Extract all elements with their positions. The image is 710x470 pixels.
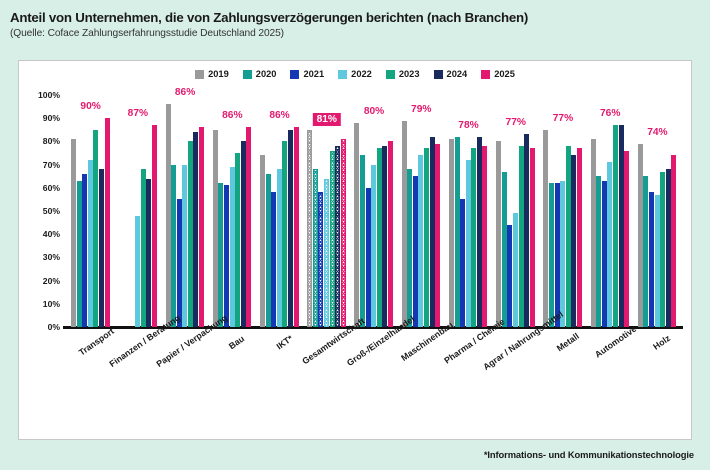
chart-legend: 2019202020212022202320242025 — [19, 69, 691, 79]
legend-item-2020[interactable]: 2020 — [243, 69, 277, 79]
x-axis-label-slot: Automotive — [587, 331, 634, 426]
bar-cluster — [260, 95, 299, 327]
bar-2023 — [519, 146, 524, 327]
bar-value-label: 77% — [553, 113, 573, 124]
bar-2019 — [543, 130, 548, 327]
y-axis-tick: 100% — [38, 90, 60, 100]
x-axis-label-slot: Pharma / Chemie — [445, 331, 492, 426]
bar-2020 — [407, 169, 412, 327]
bar-2020 — [502, 172, 507, 327]
bar-cluster — [213, 95, 252, 327]
bar-2023 — [566, 146, 571, 327]
bar-cluster — [402, 95, 441, 327]
bar-cluster — [71, 95, 110, 327]
bar-2023 — [660, 172, 665, 327]
bar-cluster — [166, 95, 205, 327]
bar-value-label: 86% — [222, 110, 242, 121]
bar-2022 — [607, 162, 612, 327]
legend-label: 2022 — [351, 69, 372, 79]
bar-2020 — [218, 183, 223, 327]
plot-area: 90%87%86%86%86%81%80%79%78%77%77%76%74% — [67, 95, 681, 327]
x-axis-label: Metall — [555, 331, 581, 353]
bar-value-label: 80% — [364, 106, 384, 117]
bar-2022 — [230, 167, 235, 327]
bar-group: 81% — [303, 95, 350, 327]
bar-2021 — [177, 199, 182, 327]
bar-2021 — [366, 188, 371, 327]
bar-value-label: 87% — [128, 108, 148, 119]
bar-2024 — [241, 141, 246, 327]
bar-cluster — [496, 95, 535, 327]
x-axis-label-slot: Holz — [634, 331, 681, 426]
x-axis-label-slot: Transport — [67, 331, 114, 426]
bar-group: 77% — [492, 95, 539, 327]
bar-2019 — [307, 130, 312, 327]
legend-label: 2019 — [208, 69, 229, 79]
bar-2022 — [466, 160, 471, 327]
y-axis-tick: 70% — [43, 160, 60, 170]
bar-2021 — [507, 225, 512, 327]
bar-2020 — [77, 181, 82, 327]
bar-group: 86% — [209, 95, 256, 327]
bar-2025 — [577, 148, 582, 327]
bar-group: 86% — [256, 95, 303, 327]
x-axis-label-slot: Metall — [539, 331, 586, 426]
bar-2023 — [93, 130, 98, 327]
x-axis-label-slot: Gesamtwirtschaft — [303, 331, 350, 426]
bar-2025 — [246, 127, 251, 327]
bar-group: 90% — [67, 95, 114, 327]
legend-swatch-icon-2023 — [386, 70, 395, 79]
bar-group: 74% — [634, 95, 681, 327]
chart-panel: 2019202020212022202320242025 0%10%20%30%… — [18, 60, 692, 440]
bar-value-label: 79% — [411, 104, 431, 115]
footnote: *Informations- und Kommunikationstechnol… — [484, 449, 694, 460]
bar-2022 — [371, 165, 376, 327]
bar-cluster — [354, 95, 393, 327]
legend-swatch-icon-2019 — [195, 70, 204, 79]
bar-2020 — [643, 176, 648, 327]
bar-2024 — [619, 125, 624, 327]
bar-2019 — [354, 123, 359, 327]
bar-2023 — [282, 141, 287, 327]
bar-2024 — [430, 137, 435, 327]
bar-2019 — [71, 139, 76, 327]
bar-2021 — [460, 199, 465, 327]
bar-value-label: 90% — [80, 101, 100, 112]
x-axis-label-slot: Maschinenbau — [398, 331, 445, 426]
bar-2019 — [449, 139, 454, 327]
legend-swatch-icon-2022 — [338, 70, 347, 79]
bar-2021 — [602, 181, 607, 327]
x-axis-label: IKT* — [274, 333, 294, 351]
bar-2019 — [638, 144, 643, 327]
bar-2024 — [99, 169, 104, 327]
bar-2024 — [382, 146, 387, 327]
bar-2019 — [166, 104, 171, 327]
legend-label: 2020 — [256, 69, 277, 79]
y-axis-tick: 0% — [48, 322, 60, 332]
bar-2021 — [271, 192, 276, 327]
y-axis: 0%10%20%30%40%50%60%70%80%90%100% — [19, 95, 63, 327]
bar-2020 — [455, 137, 460, 327]
bar-group: 86% — [161, 95, 208, 327]
legend-item-2024[interactable]: 2024 — [434, 69, 468, 79]
bar-2025 — [435, 144, 440, 327]
bar-2019 — [260, 155, 265, 327]
bar-2024 — [477, 137, 482, 327]
bar-2019 — [213, 130, 218, 327]
bar-2021 — [649, 192, 654, 327]
bar-value-label: 74% — [647, 127, 667, 138]
bar-value-label: 76% — [600, 108, 620, 119]
legend-item-2025[interactable]: 2025 — [481, 69, 515, 79]
legend-swatch-icon-2021 — [290, 70, 299, 79]
bar-value-label: 86% — [269, 110, 289, 121]
bar-2025 — [482, 146, 487, 327]
x-axis-label-slot: Finanzen / Beratung — [114, 331, 161, 426]
y-axis-tick: 80% — [43, 136, 60, 146]
bar-group: 80% — [350, 95, 397, 327]
bar-value-label: 81% — [313, 113, 341, 126]
bar-group: 78% — [445, 95, 492, 327]
page-title: Anteil von Unternehmen, die von Zahlungs… — [10, 10, 700, 26]
x-axis-label: Bau — [227, 333, 246, 351]
bar-2023 — [471, 148, 476, 327]
bar-2025 — [388, 141, 393, 327]
x-axis-label-slot: Bau — [209, 331, 256, 426]
bar-2022 — [324, 179, 329, 327]
y-axis-tick: 10% — [43, 299, 60, 309]
bar-2025 — [152, 125, 157, 327]
legend-item-2019[interactable]: 2019 — [195, 69, 229, 79]
bar-2021 — [82, 174, 87, 327]
x-axis-label: Holz — [652, 333, 673, 352]
y-axis-tick: 40% — [43, 229, 60, 239]
bar-2020 — [360, 155, 365, 327]
bar-2021 — [318, 192, 323, 327]
bar-cluster — [591, 95, 630, 327]
y-axis-tick: 90% — [43, 113, 60, 123]
legend-label: 2025 — [494, 69, 515, 79]
legend-swatch-icon-2024 — [434, 70, 443, 79]
bar-2023 — [613, 125, 618, 327]
bar-2025 — [199, 127, 204, 327]
legend-item-2022[interactable]: 2022 — [338, 69, 372, 79]
bar-value-label: 78% — [458, 120, 478, 131]
x-axis-label-slot: Agrar / Nahrungsmittel — [492, 331, 539, 426]
legend-label: 2024 — [447, 69, 468, 79]
bar-2025 — [105, 118, 110, 327]
bar-2024 — [335, 146, 340, 327]
bar-2022 — [513, 213, 518, 327]
chart-header: Anteil von Unternehmen, die von Zahlungs… — [10, 10, 700, 41]
bar-2020 — [549, 183, 554, 327]
bar-2025 — [624, 151, 629, 327]
bar-value-label: 86% — [175, 87, 195, 98]
bar-2024 — [193, 132, 198, 327]
bar-group: 77% — [539, 95, 586, 327]
bar-2024 — [524, 134, 529, 327]
bar-2020 — [171, 165, 176, 327]
bar-2019 — [591, 139, 596, 327]
bar-2025 — [294, 127, 299, 327]
x-axis-label: Automotive — [593, 324, 638, 360]
chart-source-subtitle: (Quelle: Coface Zahlungserfahrungsstudie… — [10, 27, 700, 41]
bar-2022 — [418, 155, 423, 327]
bar-2019 — [496, 141, 501, 327]
bar-2022 — [88, 160, 93, 327]
x-axis-label-slot: Papier / Verpackung — [161, 331, 208, 426]
y-axis-tick: 20% — [43, 276, 60, 286]
bar-2023 — [424, 148, 429, 327]
bar-2022 — [182, 165, 187, 327]
bar-2022 — [560, 181, 565, 327]
bar-2023 — [235, 153, 240, 327]
bar-2019 — [402, 121, 407, 327]
bar-2022 — [135, 216, 140, 327]
bar-group: 79% — [398, 95, 445, 327]
bar-2022 — [655, 195, 660, 327]
bar-2025 — [671, 155, 676, 327]
y-axis-tick: 60% — [43, 183, 60, 193]
bar-2021 — [555, 183, 560, 327]
bar-group: 87% — [114, 95, 161, 327]
y-axis-tick: 30% — [43, 252, 60, 262]
bar-2020 — [596, 176, 601, 327]
bar-2024 — [146, 179, 151, 327]
bar-2023 — [330, 151, 335, 327]
bar-2020 — [313, 169, 318, 327]
legend-item-2023[interactable]: 2023 — [386, 69, 420, 79]
bar-2021 — [224, 185, 229, 327]
bar-2024 — [666, 169, 671, 327]
bar-2023 — [141, 169, 146, 327]
legend-swatch-icon-2025 — [481, 70, 490, 79]
x-axis-label-slot: IKT* — [256, 331, 303, 426]
bar-2021 — [413, 176, 418, 327]
bar-value-label: 77% — [506, 117, 526, 128]
legend-item-2021[interactable]: 2021 — [290, 69, 324, 79]
bar-2024 — [288, 130, 293, 327]
x-axis-label: Transport — [76, 326, 115, 357]
legend-swatch-icon-2020 — [243, 70, 252, 79]
legend-label: 2021 — [303, 69, 324, 79]
x-axis-label-slot: Groß-/Einzelhandel — [350, 331, 397, 426]
bar-cluster — [307, 95, 346, 327]
bar-cluster — [543, 95, 582, 327]
bar-2020 — [266, 174, 271, 327]
bar-2024 — [571, 155, 576, 327]
bar-2025 — [530, 148, 535, 327]
bar-2025 — [341, 139, 346, 327]
legend-label: 2023 — [399, 69, 420, 79]
x-axis-labels: TransportFinanzen / BeratungPapier / Ver… — [67, 331, 681, 426]
bar-groups: 90%87%86%86%86%81%80%79%78%77%77%76%74% — [67, 95, 681, 327]
y-axis-tick: 50% — [43, 206, 60, 216]
bar-cluster — [118, 95, 157, 327]
bar-2022 — [277, 169, 282, 327]
bar-2023 — [188, 141, 193, 327]
bar-group: 76% — [587, 95, 634, 327]
bar-2023 — [377, 148, 382, 327]
chart-page: Anteil von Unternehmen, die von Zahlungs… — [0, 0, 710, 470]
